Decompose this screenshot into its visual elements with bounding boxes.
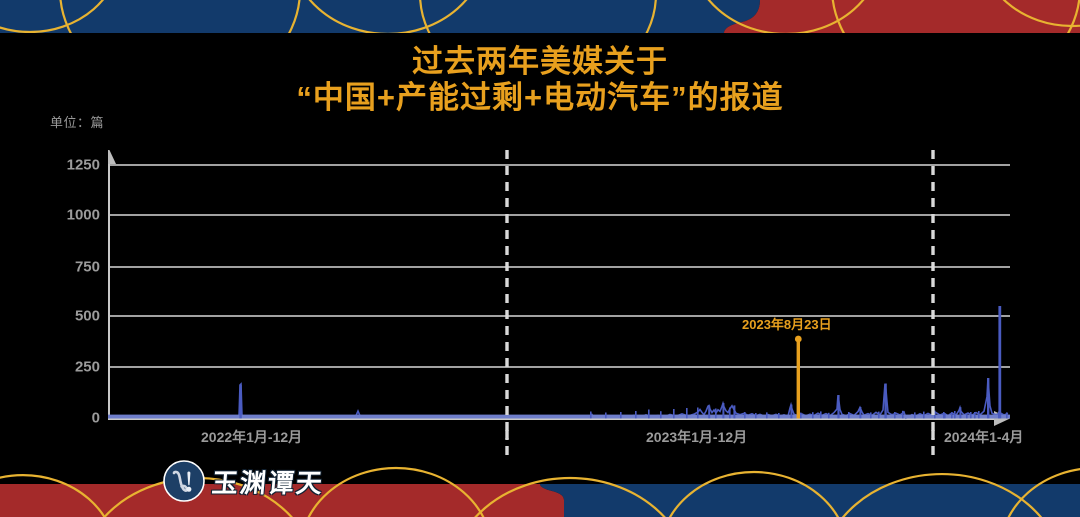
chart-baseline-band: [108, 415, 1010, 419]
y-axis-line: [108, 150, 116, 418]
x-label-2022: 2022年1月-12月: [201, 427, 302, 447]
y-tick-500: 500: [40, 308, 100, 325]
y-axis-unit-label: 单位：篇: [50, 112, 104, 131]
top-decorative-border: [0, 0, 1080, 33]
y-tick-0: 0: [40, 410, 100, 427]
annotation-marker-2023-08-23: [795, 336, 802, 419]
y-tick-1250: 1250: [40, 157, 100, 174]
watermark-text: 玉渊谭天: [210, 463, 325, 500]
annotation-label-2023-08-23: 2023年8月23日: [742, 314, 832, 333]
chart-period-dividers: [507, 150, 933, 440]
x-label-2024: 2024年1-4月: [944, 427, 1023, 447]
x-label-2023: 2023年1月-12月: [646, 427, 747, 447]
y-tick-250: 250: [40, 359, 100, 376]
page-title-line-1: 过去两年美媒关于: [0, 44, 1080, 80]
infographic-canvas: 过去两年美媒关于 “中国+产能过剩+电动汽车”的报道 单位：篇 1250 100…: [0, 0, 1080, 517]
chart-series-articles: [108, 378, 1010, 419]
watermark: 玉渊谭天: [163, 460, 324, 502]
page-title: 过去两年美媒关于 “中国+产能过剩+电动汽车”的报道: [0, 44, 1080, 116]
chart-spike-2022: [239, 385, 241, 419]
chart-plot-area: [108, 150, 1010, 430]
chart-terminal-spike: [998, 306, 1001, 419]
y-tick-750: 750: [40, 259, 100, 276]
yuyuan-tantian-logo-icon: [163, 460, 205, 502]
y-tick-1000: 1000: [40, 207, 100, 224]
chart-gridlines: [108, 165, 1010, 367]
page-title-line-2: “中国+产能过剩+电动汽车”的报道: [0, 80, 1080, 116]
y-axis-tick-labels: 1250 1000 750 500 250 0: [38, 150, 100, 430]
bottom-decorative-border: [0, 460, 1080, 517]
chart-line-trace: [108, 378, 1008, 418]
